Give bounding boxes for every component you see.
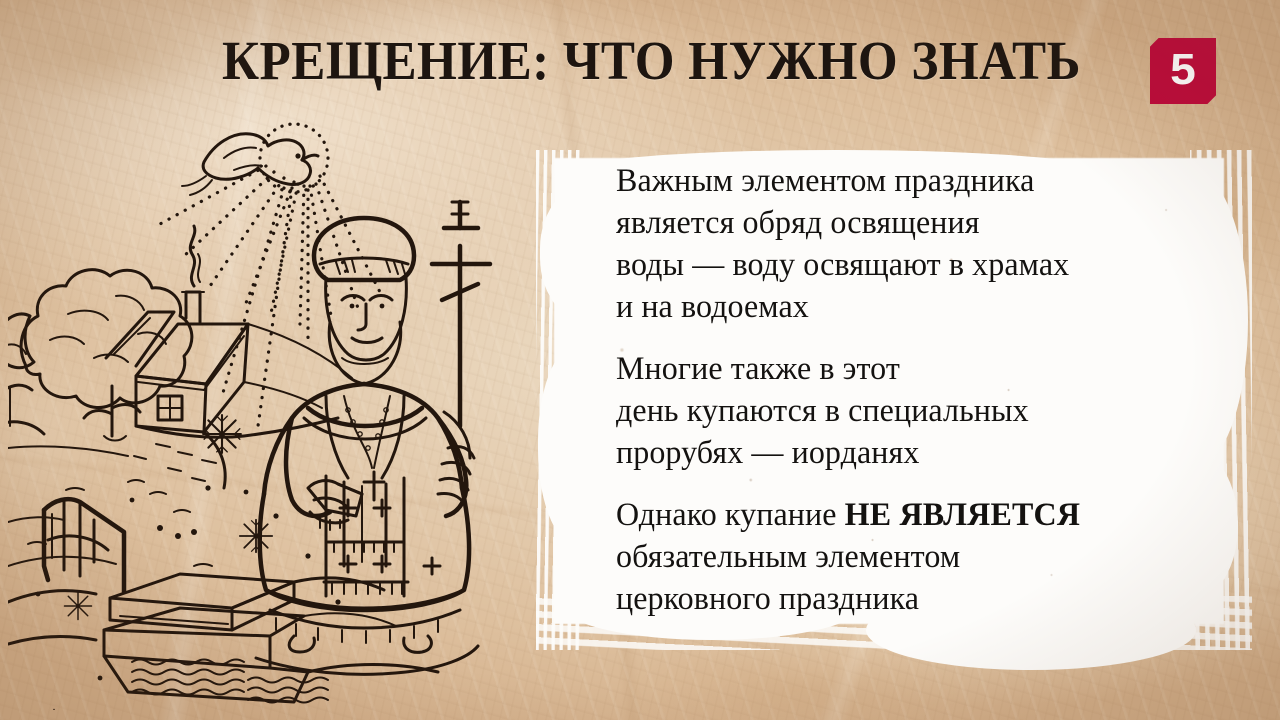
paragraph-line: воды — воду освящают в храмах (616, 244, 1217, 286)
page-title: КРЕЩЕНИЕ: ЧТО НУЖНО ЗНАТЬ (222, 31, 1022, 93)
paragraph-line: Важным элементом праздника (616, 160, 1217, 202)
paragraph-line: день купаются в специальных (616, 390, 1217, 432)
dove-icon (182, 134, 318, 195)
orthodox-priest (256, 202, 490, 674)
paragraph-line: прорубях — иорданях (616, 432, 1217, 474)
paragraph-line-emphasis: Однако купание НЕ ЯВЛЯЕТСЯ (616, 494, 1217, 536)
paragraph-line: Многие также в этот (616, 348, 1217, 390)
paragraph-1: Важным элементом праздника является обря… (616, 160, 1236, 328)
emphasis-prefix: Однако купание (616, 497, 845, 533)
willow-trees (8, 270, 192, 441)
snowflakes (28, 415, 341, 710)
emphasis-bold: НЕ ЯВЛЯЕТСЯ (845, 497, 1081, 533)
paragraph-line: обязательным элементом (616, 536, 1217, 578)
epiphany-illustration (8, 96, 588, 710)
channel-5-logo: 5 (1150, 38, 1216, 104)
paragraph-line: является обряд освящения (616, 202, 1217, 244)
paragraph-2: Многие также в этот день купаются в спец… (616, 348, 1236, 474)
paragraph-line: церковного праздника (616, 578, 1217, 620)
broadcast-infographic-slide: КРЕЩЕНИЕ: ЧТО НУЖНО ЗНАТЬ 5 Важным элеме… (0, 0, 1280, 720)
paragraph-3: Однако купание НЕ ЯВЛЯЕТСЯ обязательным … (616, 494, 1236, 620)
body-text-block: Важным элементом праздника является обря… (616, 160, 1236, 620)
paragraph-line: и на водоемах (616, 286, 1217, 328)
logo-digit: 5 (1148, 37, 1217, 103)
